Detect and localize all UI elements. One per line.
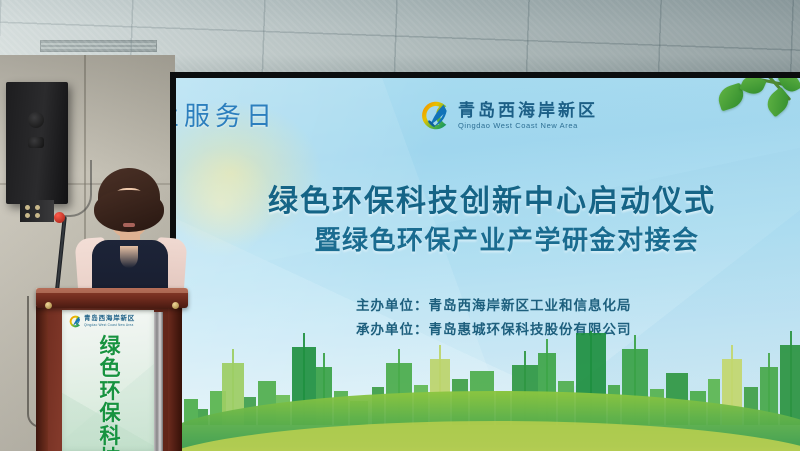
logo-text: 青岛西海岸新区 Qingdao West Coast New Area <box>458 102 598 130</box>
podium-banner-char: 环 <box>90 381 130 403</box>
screenshot-root: 企业服务日 <box>0 0 800 451</box>
podium-knob-right <box>172 302 179 309</box>
podium-banner: 青岛西海岸新区 Qingdao West Coast New Area 绿色环保… <box>62 310 154 451</box>
collar <box>120 246 138 268</box>
skyline-spire <box>790 331 792 425</box>
slide-title-sub: 暨绿色环保产业产学研金对接会 <box>222 220 792 257</box>
slide-kicker: 企业服务日 <box>176 96 277 133</box>
organizer-line: 主办单位：青岛西海岸新区工业和信息化局 <box>356 294 736 318</box>
podium-banner-char: 绿 <box>90 336 130 358</box>
podium-banner-char: 科 <box>90 426 130 448</box>
podium-knob-left <box>45 302 52 309</box>
projection-screen: 企业服务日 <box>176 78 800 451</box>
city-skyline-decoration <box>176 331 800 451</box>
leaf-decoration <box>676 78 800 154</box>
microphone-icon <box>54 212 65 223</box>
podium-banner-char: 保 <box>90 403 130 425</box>
podium-logo-en: Qingdao West Coast New Area <box>84 324 135 327</box>
mouth <box>123 223 135 227</box>
slide-logo: 青岛西海岸新区 Qingdao West Coast New Area <box>418 100 598 131</box>
speaker-woofer-icon <box>28 137 44 148</box>
podium-edge-right <box>168 306 182 451</box>
podium-logo-cn: 青岛西海岸新区 <box>84 316 135 323</box>
speaker-bracket <box>20 200 54 222</box>
qingdao-logo-icon <box>418 100 449 131</box>
logo-text-en: Qingdao West Coast New Area <box>458 122 598 130</box>
podium-metal-trim <box>154 312 163 451</box>
slide-title-main: 绿色环保科技创新中心启动仪式 <box>192 176 792 220</box>
podium-edge-left <box>36 306 48 451</box>
speaker-tweeter-icon <box>28 112 44 128</box>
podium-banner-logo: 青岛西海岸新区 Qingdao West Coast New Area <box>68 315 135 328</box>
podium-banner-char: 色 <box>90 358 130 380</box>
pa-speaker <box>6 82 68 204</box>
podium-top <box>36 288 188 308</box>
podium: 青岛西海岸新区 Qingdao West Coast New Area 绿色环保… <box>36 288 188 451</box>
logo-text-cn: 青岛西海岸新区 <box>458 102 598 119</box>
qingdao-logo-icon-small <box>68 315 81 328</box>
podium-banner-text: 绿色环保科技 <box>90 336 130 451</box>
